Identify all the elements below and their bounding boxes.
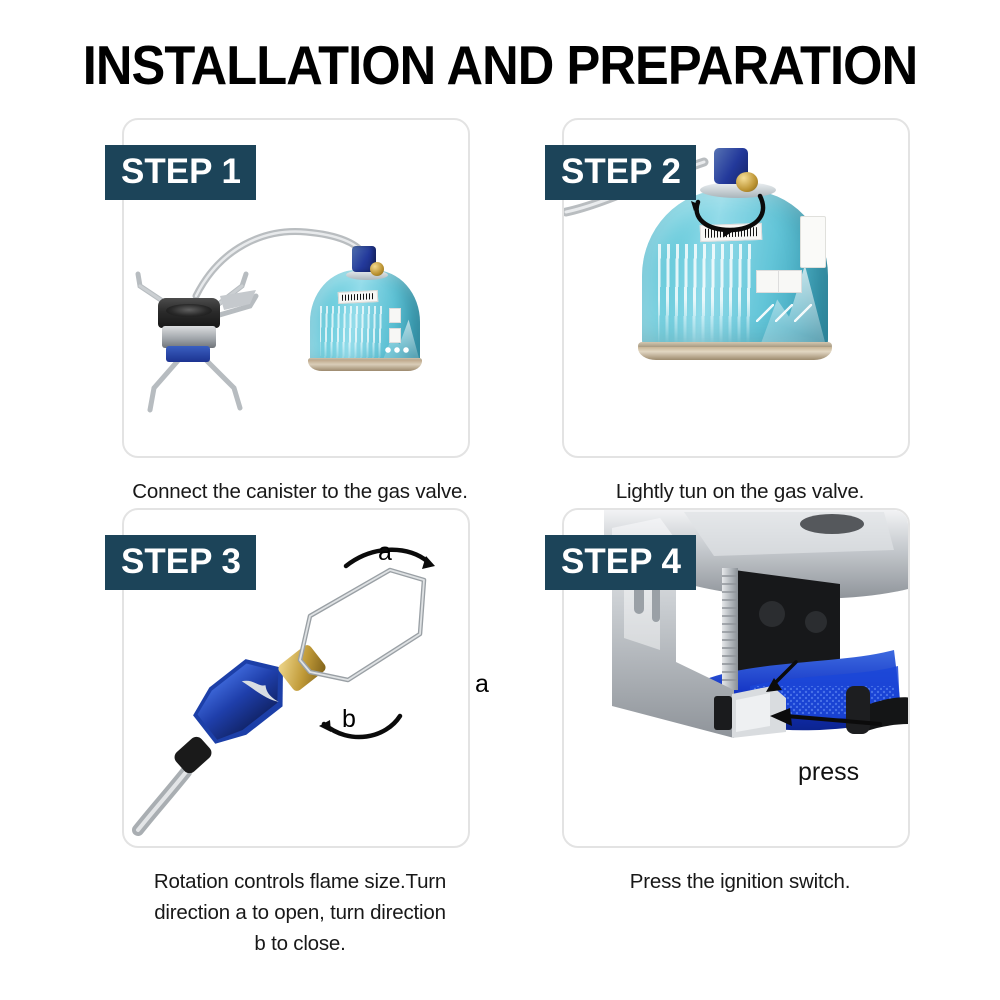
step-card-2: STEP 2 Lightly tun on the gas valve. [545,118,935,507]
canister-valve-brass-knob [370,262,384,276]
step-card-4: STEP 4 Press the ignition switch. [545,508,935,897]
stove-blue-block [166,346,210,362]
step-4-badge: STEP 4 [545,535,696,590]
caption-line: Rotation controls flame size.Turn [105,866,495,897]
steps-grid: STEP 1 Connect the canister to the gas v… [0,118,1000,978]
step-1-badge: STEP 1 [105,145,256,200]
installation-guide-page: INSTALLATION AND PREPARATION [0,0,1000,1000]
caption-line: direction a to open, turn direction [105,897,495,928]
step-3-caption: Rotation controls flame size.Turn direct… [105,866,495,959]
page-title: INSTALLATION AND PREPARATION [40,33,960,97]
step-1-caption: Connect the canister to the gas valve. [105,476,495,507]
step-4-caption: Press the ignition switch. [545,866,935,897]
step-card-3: STEP 3 a Rotation controls flame size.Tu… [105,508,495,959]
stove-body [162,326,216,348]
direction-label-a: a [475,670,489,699]
caption-line: Press the ignition switch. [545,866,935,897]
step-3-badge: STEP 3 [105,535,256,590]
step-2-caption: Lightly tun on the gas valve. [545,476,935,507]
press-label-text: press [798,758,859,787]
caption-line: b to close. [105,928,495,959]
direction-label-a-text: a [378,538,392,567]
caption-line: Connect the canister to the gas valve. [105,476,495,507]
step-2-badge: STEP 2 [545,145,696,200]
caption-line: Lightly tun on the gas valve. [545,476,935,507]
burner-head [158,298,220,328]
direction-label-b-text: b [342,705,356,734]
step-card-1: STEP 1 Connect the canister to the gas v… [105,118,495,507]
